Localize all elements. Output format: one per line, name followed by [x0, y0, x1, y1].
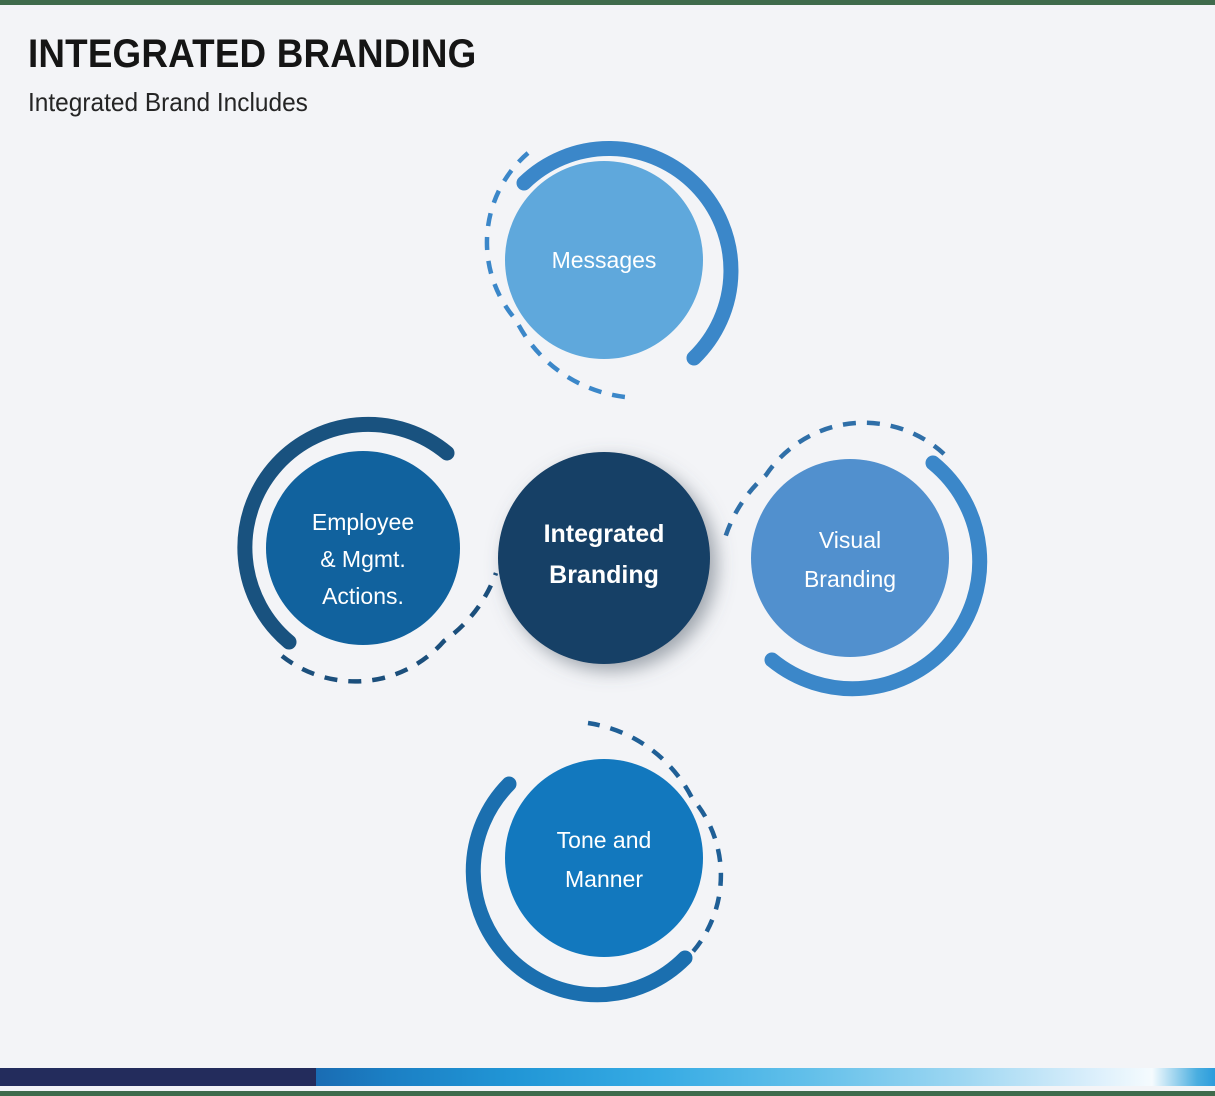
visual-branding-label-line1: Visual	[819, 527, 881, 553]
footer-bar-navy-segment	[0, 1068, 316, 1086]
integrated-branding-circle[interactable]	[498, 452, 710, 664]
integrated-branding-label-line1: Integrated	[544, 520, 665, 548]
visual-branding-label-line2: Branding	[804, 566, 896, 592]
integrated-branding-label-line2: Branding	[549, 561, 659, 589]
node-tone-and-manner[interactable]: Tone and Manner	[473, 723, 721, 995]
employee-and-mgmt-actions-label-line3: Actions.	[322, 583, 404, 609]
node-center-hub[interactable]	[498, 452, 710, 664]
messages-label: Messages	[552, 247, 657, 273]
node-visual-branding[interactable]: Visual Branding	[723, 423, 980, 689]
footer-accent-bar	[0, 1068, 1215, 1086]
tone-and-manner-label-line2: Manner	[565, 866, 643, 892]
employee-and-mgmt-actions-label-line2: & Mgmt.	[320, 546, 406, 572]
visual-branding-circle[interactable]	[751, 459, 949, 657]
slide-canvas: INTEGRATED BRANDING Integrated Brand Inc…	[0, 0, 1215, 1096]
tone-and-manner-label-line1: Tone and	[557, 827, 652, 853]
employee-and-mgmt-actions-label-line1: Employee	[312, 509, 414, 535]
node-messages[interactable]: Messages	[487, 149, 731, 397]
footer-bar-gradient-segment	[316, 1068, 1215, 1086]
tone-and-manner-circle[interactable]	[505, 759, 703, 957]
integrated-branding-diagram: Messages Visual Branding Tone and Manner	[0, 5, 1215, 1065]
node-employee-and-mgmt-actions[interactable]: Employee & Mgmt. Actions.	[245, 424, 496, 681]
